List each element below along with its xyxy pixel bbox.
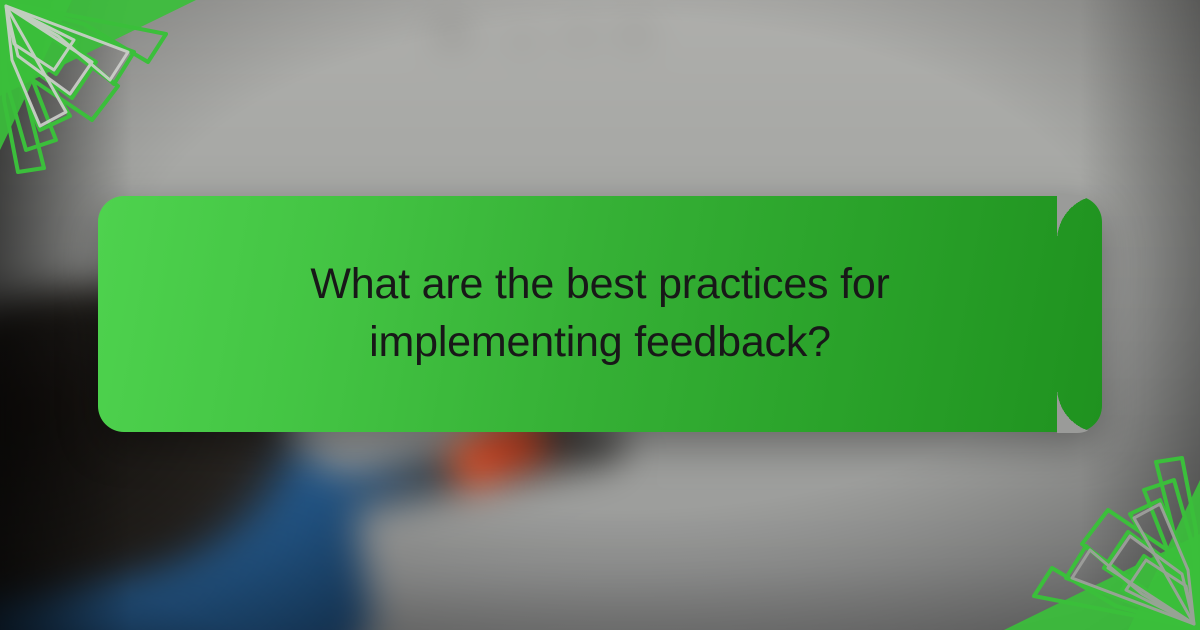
quote-card: What are the best practices for implemen… xyxy=(0,0,1200,630)
quote-text: What are the best practices for implemen… xyxy=(220,256,980,371)
quote-banner: What are the best practices for implemen… xyxy=(98,196,1102,432)
